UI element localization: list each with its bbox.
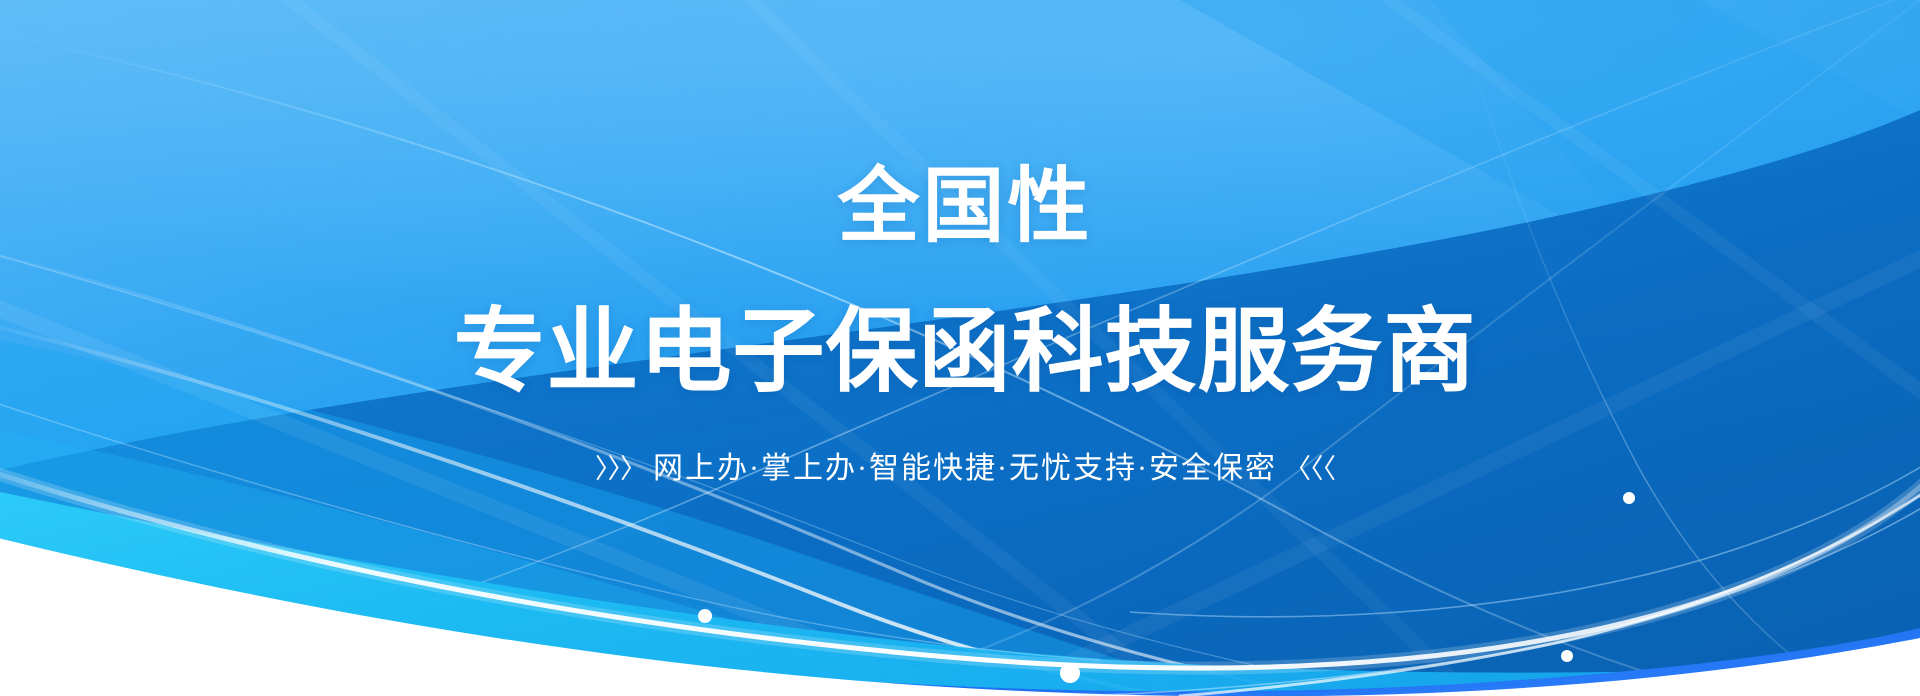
curve-dot-large bbox=[1060, 663, 1080, 683]
curve-dot-small-lower bbox=[1561, 650, 1573, 662]
curve-dot-medium bbox=[698, 609, 712, 623]
banner-background-art bbox=[0, 0, 1920, 696]
curve-dot-small-upper bbox=[1623, 492, 1635, 504]
hero-banner: 全国性 专业电子保函科技服务商 〉〉〉网上办·掌上办·智能快捷·无忧支持·安全保… bbox=[0, 0, 1920, 696]
